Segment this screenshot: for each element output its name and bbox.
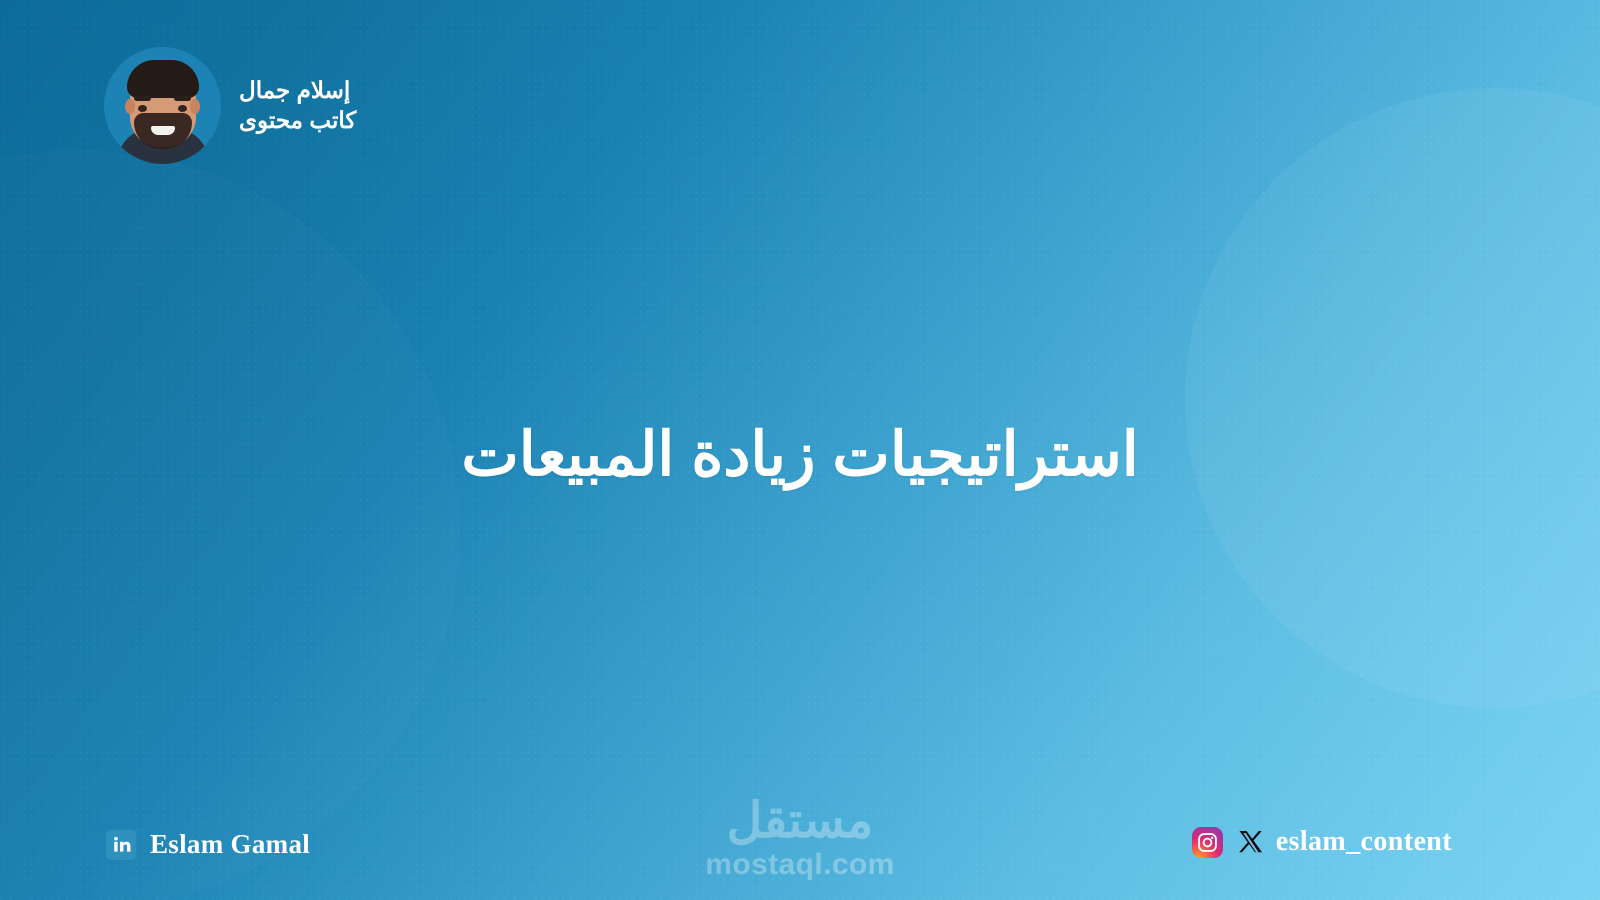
footer-linkedin-group[interactable]: Eslam Gamal — [106, 829, 310, 860]
instagram-icon[interactable] — [1192, 827, 1223, 858]
author-header: إسلام جمال كاتب محتوى — [104, 47, 356, 164]
linkedin-icon[interactable] — [106, 830, 136, 860]
mostaql-watermark: مستقل mostaql.com — [705, 797, 894, 882]
avatar — [104, 47, 221, 164]
author-name: إسلام جمال — [239, 76, 350, 105]
avatar-eye-right — [178, 105, 187, 112]
x-handle[interactable]: eslam_content — [1276, 826, 1452, 858]
x-twitter-icon[interactable] — [1236, 828, 1265, 857]
mostaql-url-text: mostaql.com — [705, 848, 894, 882]
avatar-ear-right — [190, 99, 200, 114]
mostaql-logo-text: مستقل — [727, 797, 874, 846]
footer-social-group[interactable]: eslam_content — [1192, 826, 1452, 858]
author-identity: إسلام جمال كاتب محتوى — [239, 76, 356, 135]
cover-canvas: إسلام جمال كاتب محتوى استراتيجيات زيادة … — [0, 0, 1600, 900]
avatar-hair — [127, 60, 199, 98]
avatar-eyebrow-left — [134, 96, 151, 101]
author-role: كاتب محتوى — [239, 106, 356, 135]
avatar-eye-left — [138, 105, 147, 112]
page-title: استراتيجيات زيادة المبيعات — [461, 416, 1138, 492]
avatar-eyebrow-right — [174, 96, 191, 101]
avatar-ear-left — [125, 99, 135, 114]
linkedin-handle[interactable]: Eslam Gamal — [150, 829, 310, 860]
avatar-mouth — [151, 126, 175, 135]
title-container: استراتيجيات زيادة المبيعات — [0, 375, 1600, 533]
